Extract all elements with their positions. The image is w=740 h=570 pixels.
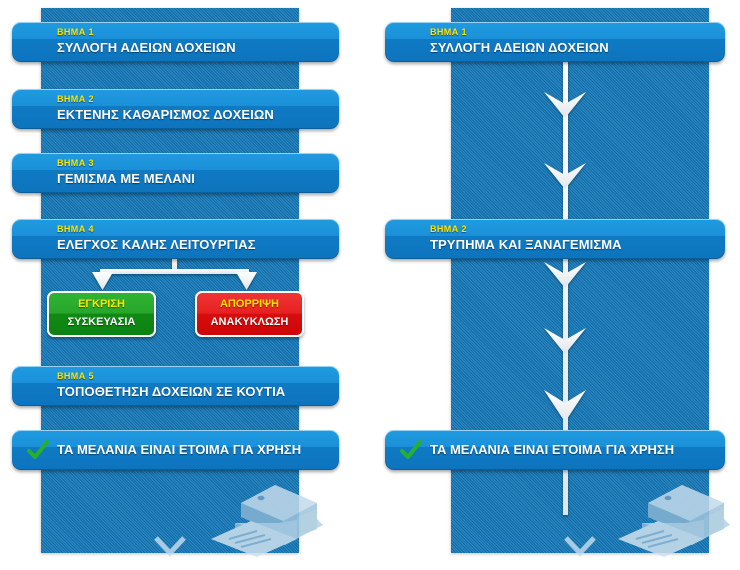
decision-reject[interactable]: ΑΠΟΡΡΙΨΗ ΑΝΑΚΥΚΛΩΣΗ — [195, 291, 304, 337]
right-flow-panel — [451, 8, 709, 553]
decision-outcome: ΑΠΟΡΡΙΨΗ — [197, 298, 302, 310]
right-final-bar[interactable]: ΤΑ ΜΕΛΑΝΙΑ ΕΙΝΑΙ ΕΤΟΙΜΑ ΓΙΑ ΧΡΗΣΗ — [385, 430, 725, 470]
step-title: ΕΛΕΓΧΟΣ ΚΑΛΗΣ ΛΕΙΤΟΥΡΓΙΑΣ — [57, 237, 256, 252]
step-number: ΒΗΜΑ 5 — [57, 371, 94, 381]
printer-icon — [612, 473, 740, 559]
flowchart-stage: ΒΗΜΑ 1 ΣΥΛΛΟΓΗ ΑΔΕΙΩΝ ΔΟΧΕΙΩΝ ΒΗΜΑ 2 ΕΚΤ… — [0, 0, 740, 570]
final-label: ΤΑ ΜΕΛΑΝΙΑ ΕΙΝΑΙ ΕΤΟΙΜΑ ΓΙΑ ΧΡΗΣΗ — [430, 442, 674, 457]
step-title: ΕΚΤΕΝΗΣ ΚΑΘΑΡΙΣΜΟΣ ΔΟΧΕΙΩΝ — [57, 107, 274, 122]
step-title: ΤΟΠΟΘΕΤΗΣΗ ΔΟΧΕΙΩΝ ΣΕ ΚΟΥΤΙΑ — [57, 384, 285, 399]
printer-icon — [205, 473, 335, 559]
left-step-2[interactable]: ΒΗΜΑ 2 ΕΚΤΕΝΗΣ ΚΑΘΑΡΙΣΜΟΣ ΔΟΧΕΙΩΝ — [12, 89, 339, 129]
decision-action: ΣΥΣΚΕΥΑΣΙΑ — [49, 316, 154, 328]
check-icon — [27, 440, 49, 462]
step-number: ΒΗΜΑ 3 — [57, 158, 94, 168]
step-title: ΤΡΥΠΗΜΑ ΚΑΙ ΞΑΝΑΓΕΜΙΣΜΑ — [430, 237, 622, 252]
left-final-bar[interactable]: ΤΑ ΜΕΛΑΝΙΑ ΕΙΝΑΙ ΕΤΟΙΜΑ ΓΙΑ ΧΡΗΣΗ — [12, 430, 339, 470]
final-label: ΤΑ ΜΕΛΑΝΙΑ ΕΙΝΑΙ ΕΤΟΙΜΑ ΓΙΑ ΧΡΗΣΗ — [57, 442, 301, 457]
step-title: ΣΥΛΛΟΓΗ ΑΔΕΙΩΝ ΔΟΧΕΙΩΝ — [57, 40, 236, 55]
step-number: ΒΗΜΑ 1 — [430, 27, 467, 37]
decision-outcome: ΕΓΚΡΙΣΗ — [49, 298, 154, 310]
left-step-5[interactable]: ΒΗΜΑ 5 ΤΟΠΟΘΕΤΗΣΗ ΔΟΧΕΙΩΝ ΣΕ ΚΟΥΤΙΑ — [12, 366, 339, 406]
decision-approve[interactable]: ΕΓΚΡΙΣΗ ΣΥΣΚΕΥΑΣΙΑ — [47, 291, 156, 337]
decision-action: ΑΝΑΚΥΚΛΩΣΗ — [197, 316, 302, 328]
step-number: ΒΗΜΑ 2 — [430, 224, 467, 234]
step-title: ΣΥΛΛΟΓΗ ΑΔΕΙΩΝ ΔΟΧΕΙΩΝ — [430, 40, 609, 55]
step-number: ΒΗΜΑ 1 — [57, 27, 94, 37]
left-step-1[interactable]: ΒΗΜΑ 1 ΣΥΛΛΟΓΗ ΑΔΕΙΩΝ ΔΟΧΕΙΩΝ — [12, 22, 339, 62]
check-icon — [400, 440, 422, 462]
left-step-3[interactable]: ΒΗΜΑ 3 ΓΕΜΙΣΜΑ ΜΕ ΜΕΛΑΝΙ — [12, 153, 339, 193]
right-step-1[interactable]: ΒΗΜΑ 1 ΣΥΛΛΟΓΗ ΑΔΕΙΩΝ ΔΟΧΕΙΩΝ — [385, 22, 725, 62]
step-title: ΓΕΜΙΣΜΑ ΜΕ ΜΕΛΑΝΙ — [57, 171, 195, 186]
step-number: ΒΗΜΑ 2 — [57, 94, 94, 104]
right-step-2[interactable]: ΒΗΜΑ 2 ΤΡΥΠΗΜΑ ΚΑΙ ΞΑΝΑΓΕΜΙΣΜΑ — [385, 219, 725, 259]
step-number: ΒΗΜΑ 4 — [57, 224, 94, 234]
left-step-4[interactable]: ΒΗΜΑ 4 ΕΛΕΓΧΟΣ ΚΑΛΗΣ ΛΕΙΤΟΥΡΓΙΑΣ — [12, 219, 339, 259]
